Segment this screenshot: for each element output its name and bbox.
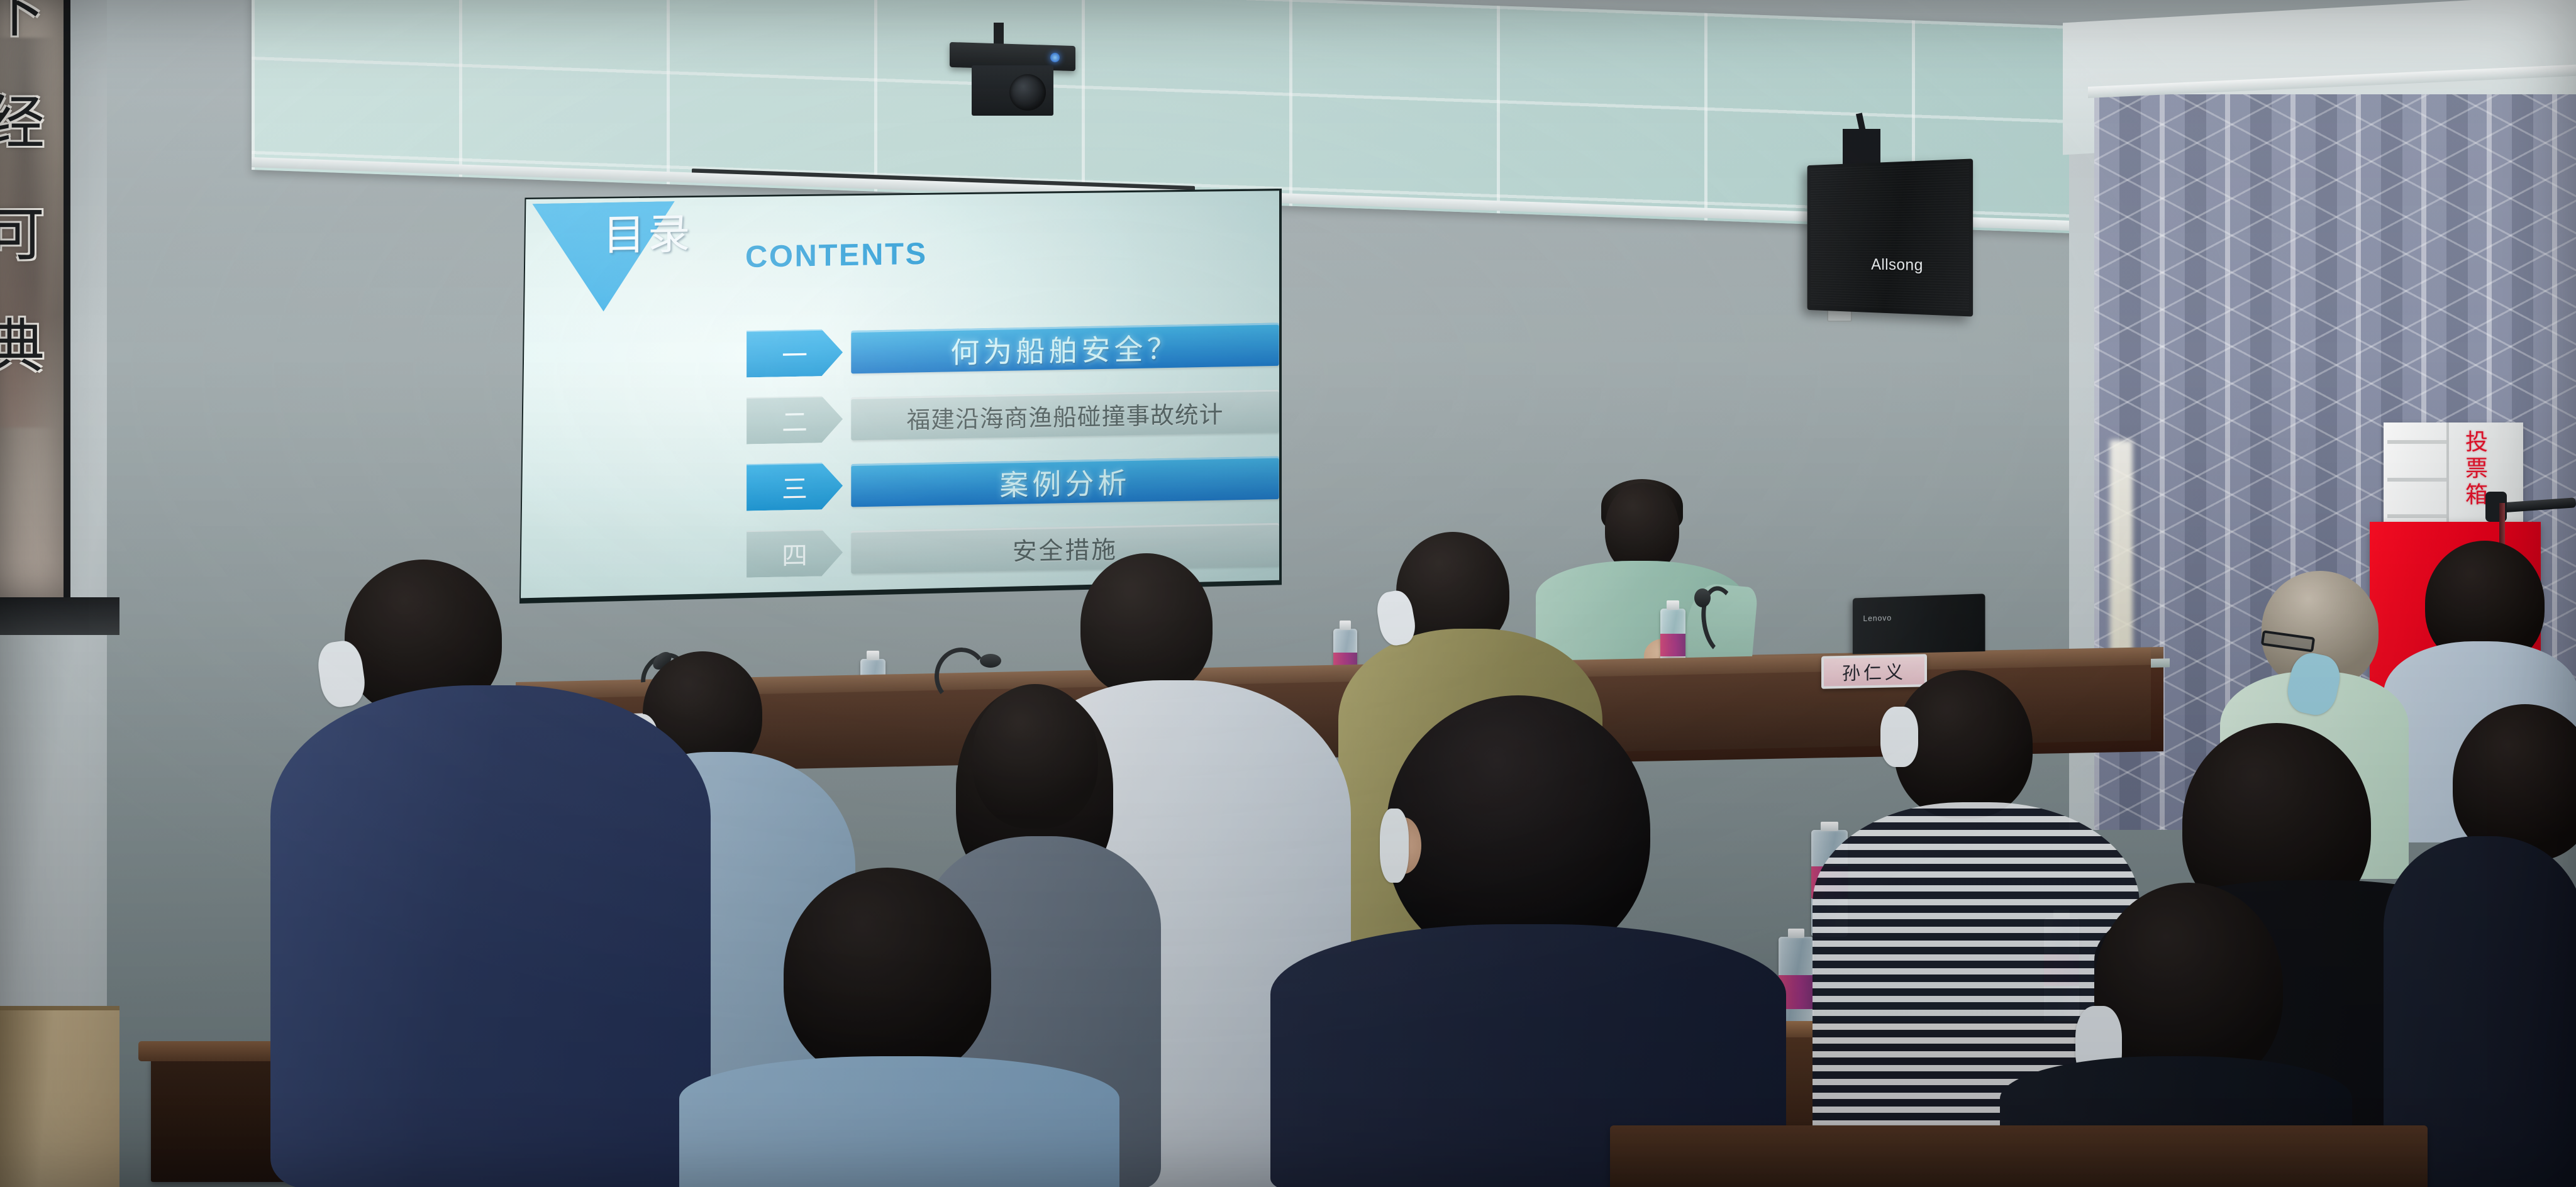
agenda-item-4: 四 安全措施 bbox=[747, 521, 1279, 578]
ballot-label-char: 投 bbox=[2465, 431, 2488, 454]
agenda-item-3-number: 三 bbox=[747, 462, 843, 511]
presenter-head bbox=[1605, 483, 1679, 573]
nameplate-sun-renyi: 孙仁义 bbox=[1821, 654, 1927, 689]
agenda-item-3-bar: 案例分析 bbox=[851, 456, 1279, 507]
ballot-box-slot bbox=[2387, 440, 2448, 444]
speaker-grille-icon bbox=[1811, 163, 1969, 312]
agenda-item-3-label: 案例分析 bbox=[999, 460, 1130, 504]
agenda-item-4-number: 四 bbox=[747, 529, 843, 577]
laptop-brand-logo: Lenovo bbox=[1863, 613, 1892, 623]
poster-char: 可 bbox=[0, 206, 45, 264]
agenda-item-2-number: 二 bbox=[747, 395, 843, 444]
wall-wainscot-panel bbox=[0, 1006, 119, 1187]
agenda-item-4-bar: 安全措施 bbox=[851, 523, 1279, 574]
microphone-capsule-icon bbox=[1694, 588, 1711, 607]
projector-lens-icon bbox=[1009, 74, 1046, 111]
poster-frame-base bbox=[0, 597, 119, 635]
poster-characters: 下 经 可 典 bbox=[0, 0, 43, 376]
poster-char: 经 bbox=[0, 94, 45, 152]
projector-power-led-icon bbox=[1050, 53, 1060, 62]
audience-desk bbox=[1610, 1125, 2428, 1187]
speaker-bracket bbox=[1843, 129, 1880, 167]
slide-agenda-list: 一 何为船舶安全？ 二 福建沿海商渔船碰撞事故统计 三 案例分析 bbox=[747, 321, 1279, 597]
agenda-item-1-label: 何为船舶安全？ bbox=[950, 325, 1179, 371]
poster-char: 典 bbox=[0, 318, 45, 376]
slide-title-en: CONTENTS bbox=[745, 236, 928, 275]
attendee-torso bbox=[679, 1056, 1119, 1187]
presentation-slide: 目录 CONTENTS 一 何为船舶安全？ 二 福建沿海商渔船碰撞事故统计 三 bbox=[521, 190, 1279, 600]
ballot-label-char: 箱 bbox=[2465, 484, 2488, 507]
ballot-box-slot bbox=[2387, 478, 2448, 482]
microphone-capsule-icon bbox=[980, 654, 1001, 668]
projection-screen: 目录 CONTENTS 一 何为船舶安全？ 二 福建沿海商渔船碰撞事故统计 三 bbox=[521, 190, 1279, 600]
attendee-head bbox=[784, 868, 991, 1081]
attendee-head bbox=[1080, 553, 1213, 697]
poster-char: 下 bbox=[0, 0, 45, 40]
agenda-item-2-bar: 福建沿海商渔船碰撞事故统计 bbox=[851, 390, 1279, 441]
agenda-item-1-number: 一 bbox=[747, 329, 843, 377]
wall-mounted-loudspeaker: Allsong bbox=[1807, 158, 1974, 316]
agenda-item-2: 二 福建沿海商渔船碰撞事故统计 bbox=[747, 388, 1279, 444]
ballot-box-edge bbox=[2446, 422, 2449, 523]
conference-room-photo: 下 经 可 典 Allsong 目录 CONTENTS 一 何为船舶安全？ bbox=[0, 0, 2576, 1187]
nameplate-text: 孙仁义 bbox=[1842, 658, 1906, 685]
agenda-item-1-bar: 何为船舶安全？ bbox=[851, 323, 1279, 373]
slide-title-cn: 目录 bbox=[603, 199, 693, 263]
face-mask bbox=[1880, 707, 1918, 767]
agenda-item-1: 一 何为船舶安全？ bbox=[747, 321, 1279, 377]
attendee-head bbox=[972, 684, 1098, 829]
ballot-box-label: 投 票 箱 bbox=[2465, 431, 2488, 507]
agenda-item-3: 三 案例分析 bbox=[747, 455, 1279, 511]
ballot-label-char: 票 bbox=[2465, 458, 2488, 480]
speaker-brand-label: Allsong bbox=[1871, 256, 1923, 275]
bottle-label bbox=[1660, 634, 1685, 656]
attendee-torso bbox=[270, 685, 711, 1187]
agenda-item-4-label: 安全措施 bbox=[1013, 530, 1118, 567]
ballot-box-slot bbox=[2387, 514, 2448, 518]
agenda-item-2-label: 福建沿海商渔船碰撞事故统计 bbox=[907, 395, 1224, 435]
face-mask bbox=[1380, 809, 1409, 883]
framed-calligraphy-poster: 下 经 可 典 bbox=[0, 0, 70, 597]
